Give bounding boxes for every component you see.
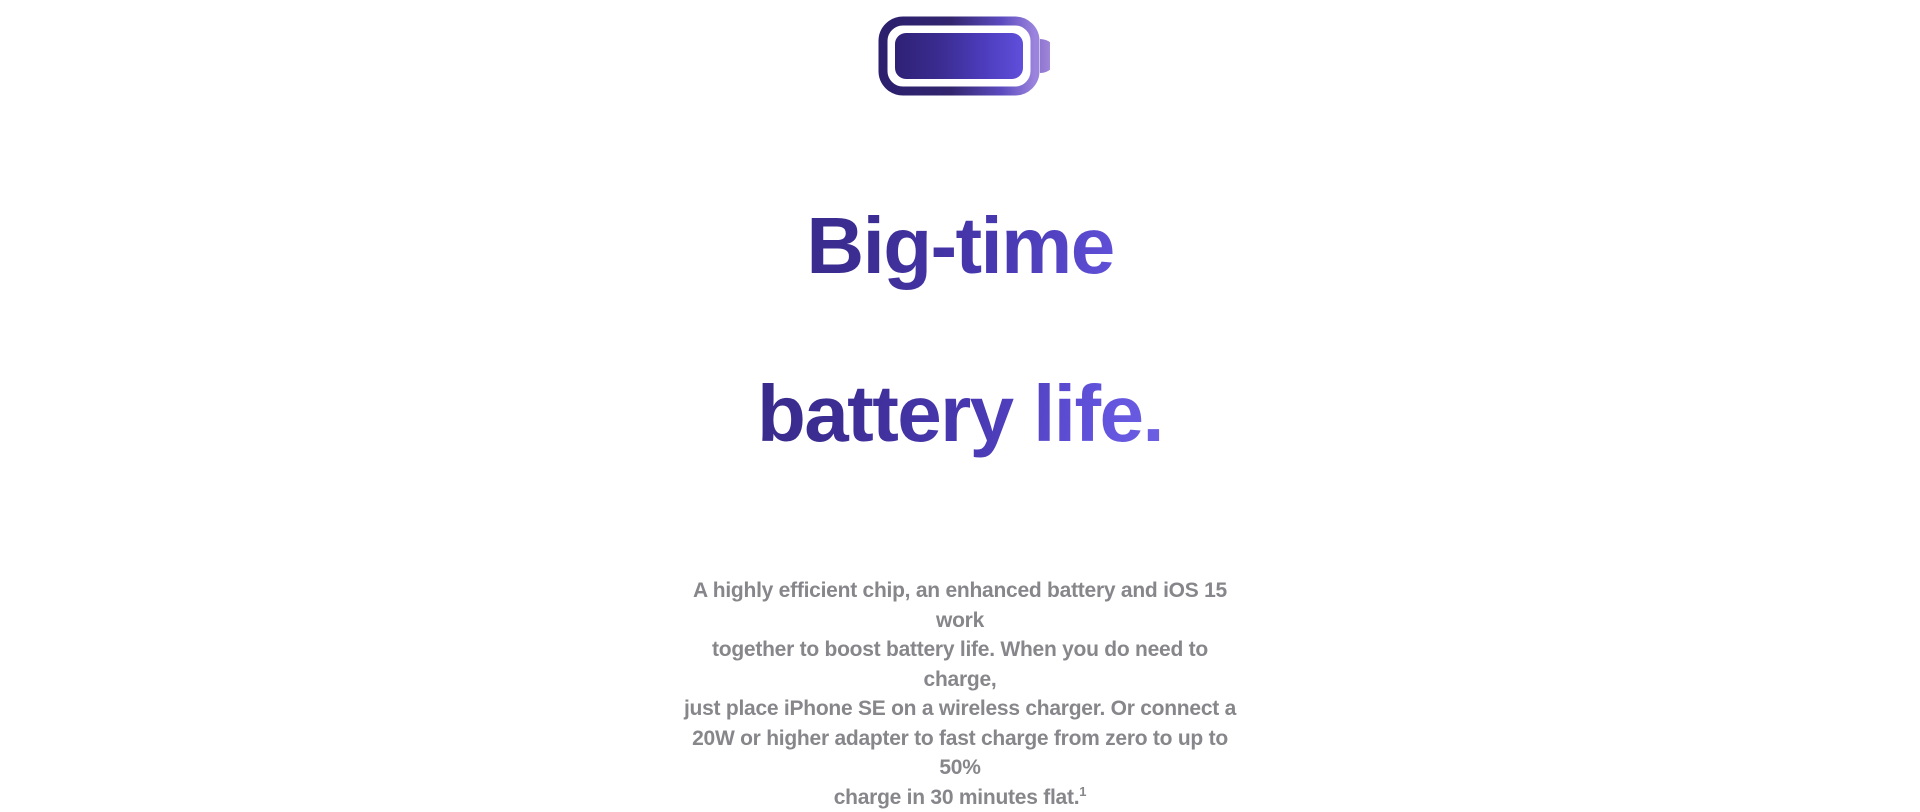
body-copy: A highly efficient chip, an enhanced bat…	[680, 576, 1240, 812]
body-line-4: 20W or higher adapter to fast charge fro…	[680, 724, 1240, 783]
battery-full-icon	[870, 8, 1050, 104]
battery-life-section: Big-time battery life. A highly efficien…	[0, 0, 1920, 525]
headline-line-2: battery life.	[757, 372, 1163, 456]
body-line-1: A highly efficient chip, an enhanced bat…	[680, 576, 1240, 635]
battery-terminal-nub	[1040, 39, 1050, 73]
body-line-5-text: charge in 30 minutes flat.	[834, 786, 1080, 809]
body-line-3: just place iPhone SE on a wireless charg…	[680, 694, 1240, 724]
battery-fill-level	[895, 33, 1023, 79]
body-line-2: together to boost battery life. When you…	[680, 635, 1240, 694]
body-line-5: charge in 30 minutes flat.1	[680, 783, 1240, 812]
headline-line-1: Big-time	[757, 204, 1163, 288]
footnote-marker: 1	[1079, 784, 1086, 799]
page-title: Big-time battery life.	[757, 120, 1163, 540]
